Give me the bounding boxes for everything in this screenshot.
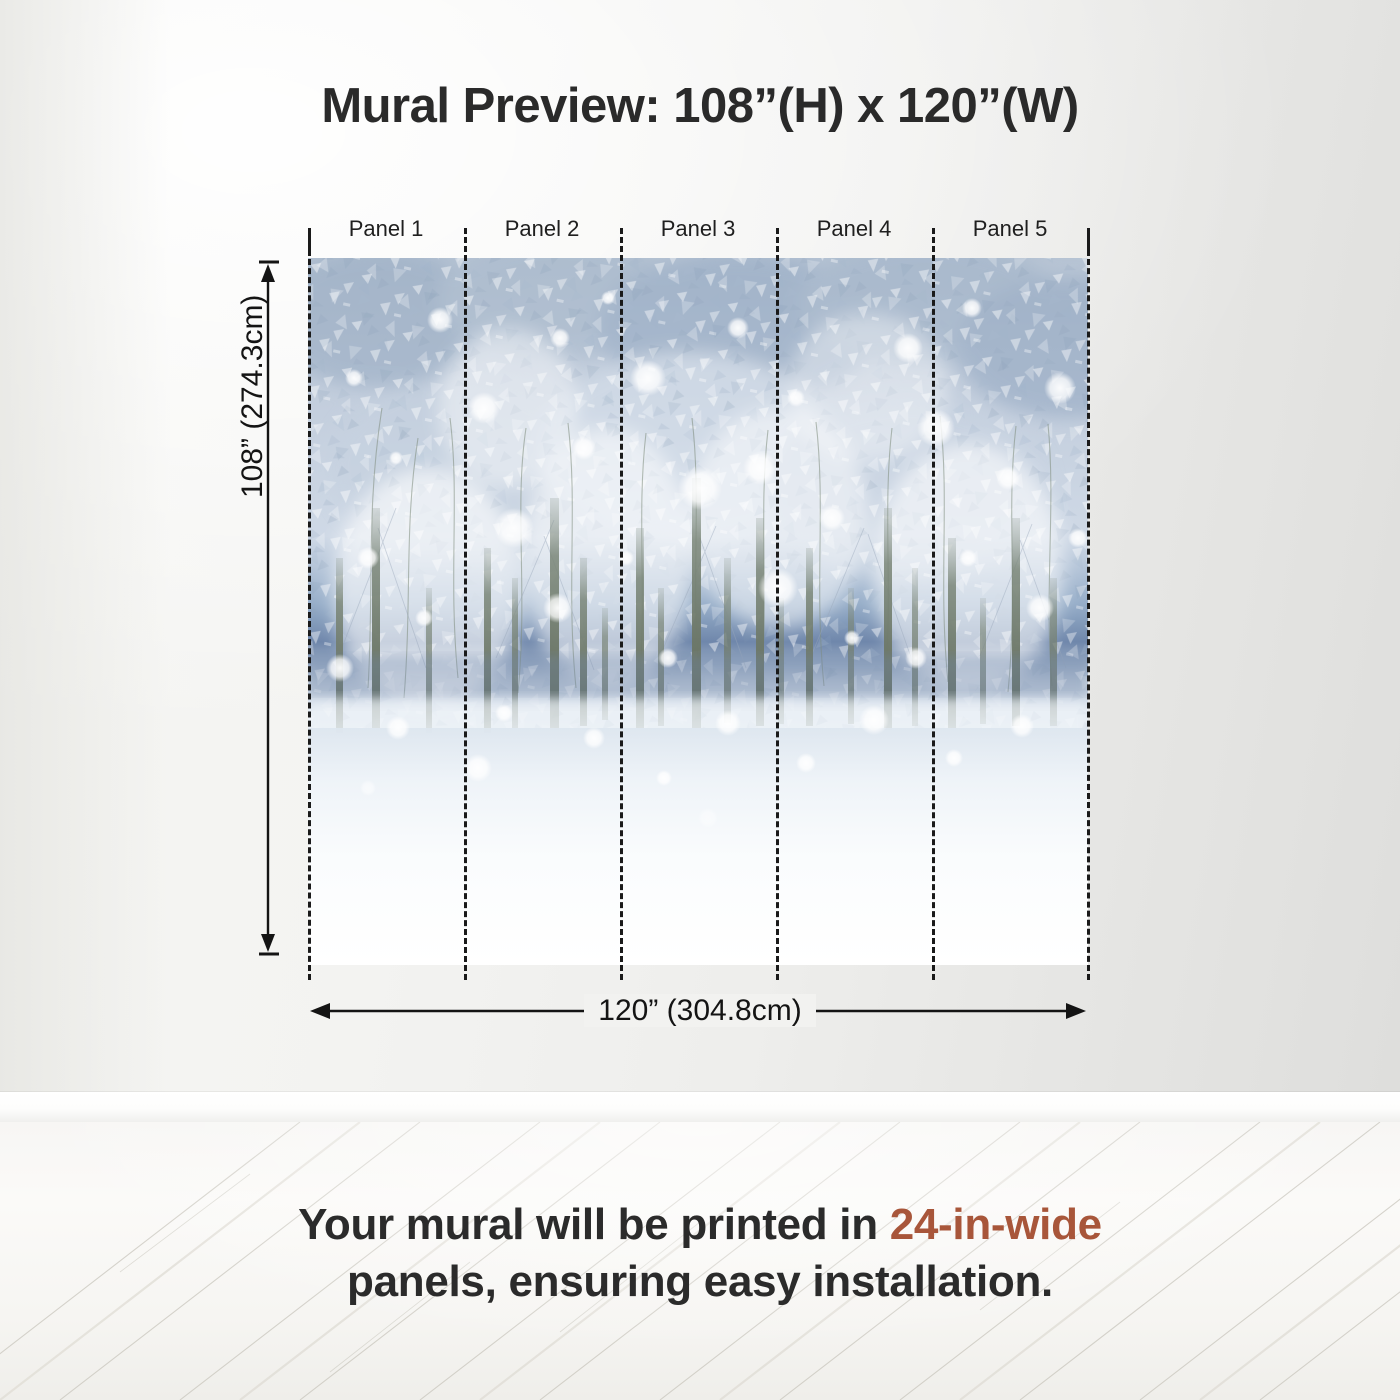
width-dimension-label: 120” (304.8cm) (0, 994, 1400, 1028)
width-dimension-text: 120” (304.8cm) (584, 994, 815, 1027)
panel-divider-3 (776, 228, 779, 980)
caption-line-1-prefix: Your mural will be printed in (298, 1200, 890, 1249)
panel-tick-left (308, 228, 311, 250)
caption-accent-text: 24-in-wide (890, 1200, 1102, 1249)
panel-divider-4 (932, 228, 935, 980)
mural-edge-left (308, 250, 311, 980)
panel-divider-2 (620, 228, 623, 980)
page-title: Mural Preview: 108”(H) x 120”(W) (0, 78, 1400, 134)
panel-divider-1 (464, 228, 467, 980)
mural-edge-right (1087, 250, 1090, 980)
caption-line-1: Your mural will be printed in 24-in-wide (0, 1196, 1400, 1253)
caption-line-2: panels, ensuring easy installation. (0, 1253, 1400, 1310)
footer-caption: Your mural will be printed in 24-in-wide… (0, 1196, 1400, 1310)
baseboard (0, 1092, 1400, 1122)
wall-shadow-left (0, 0, 170, 1092)
panel-tick-right (1087, 228, 1090, 250)
mural-preview-screen: Mural Preview: 108”(H) x 120”(W) Panel 1… (0, 0, 1400, 1400)
panel-divider-lines (308, 228, 1088, 980)
height-dimension-label: 108” (274.3cm) (236, 295, 270, 498)
